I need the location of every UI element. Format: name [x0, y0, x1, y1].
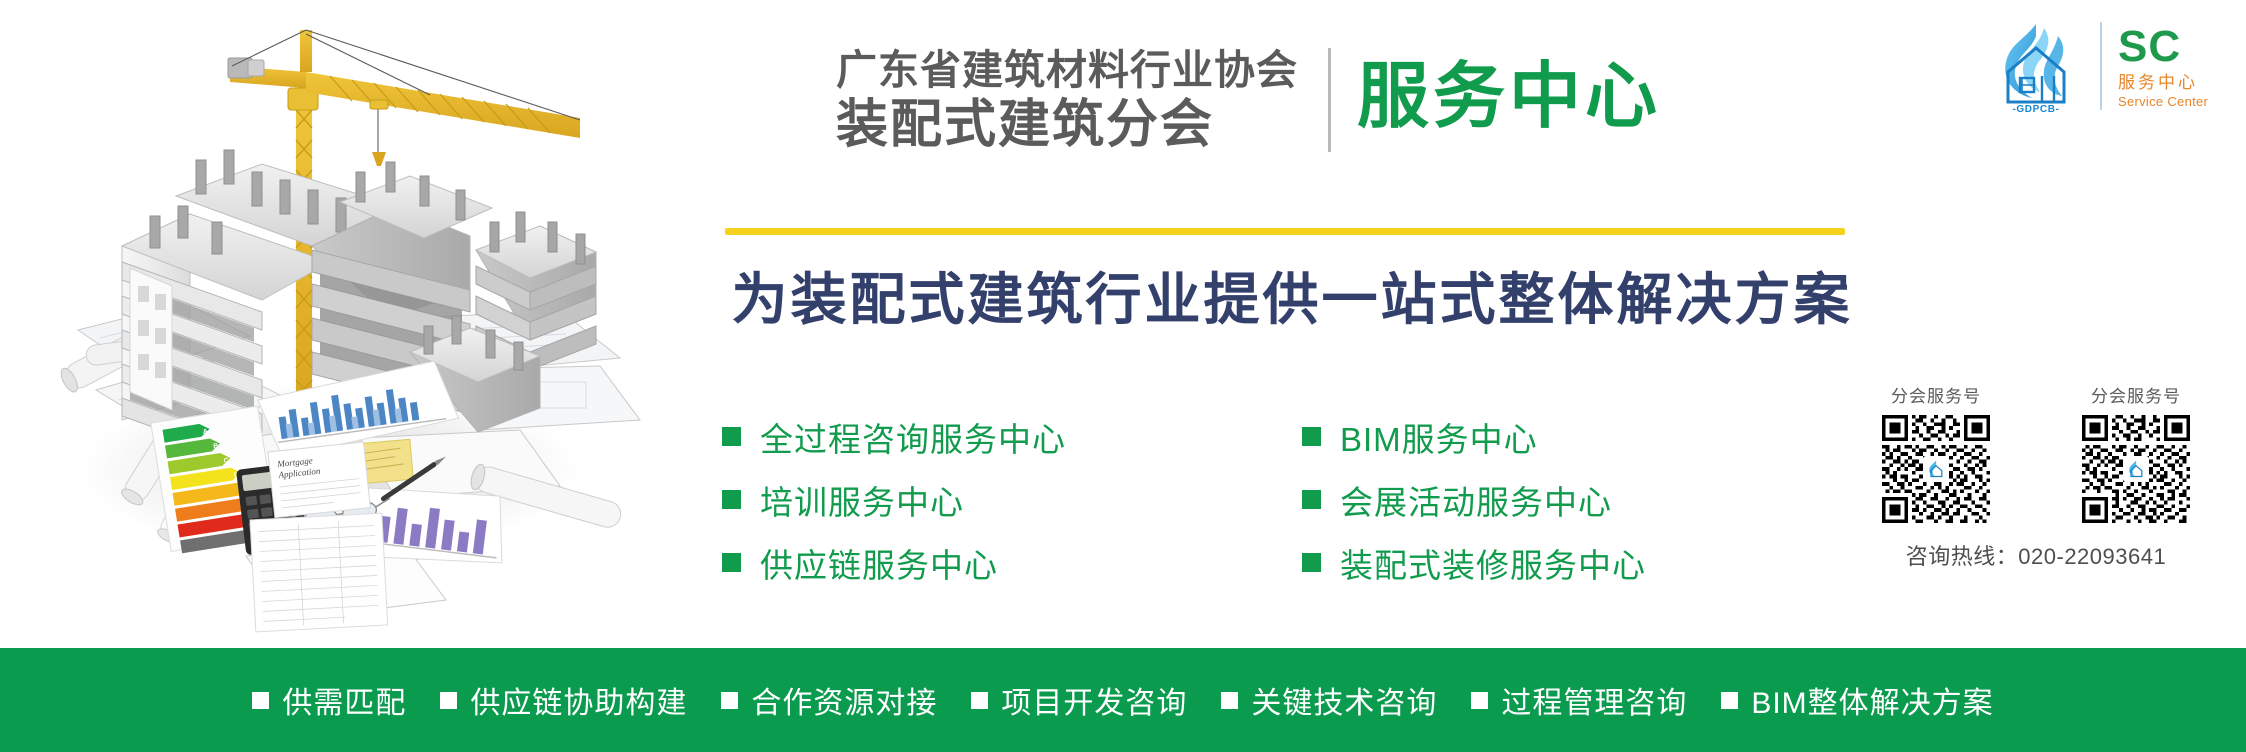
footer-item-supply-chain-build[interactable]: 供应链协助构建 — [440, 678, 687, 722]
square-bullet-icon — [1302, 427, 1321, 446]
footer-item-label: 供应链协助构建 — [470, 678, 687, 722]
service-item-decoration[interactable]: 装配式装修服务中心 — [1302, 531, 1782, 594]
square-bullet-icon — [722, 553, 741, 572]
footer-item-label: 过程管理咨询 — [1501, 678, 1687, 722]
service-item-bim[interactable]: BIM服务中心 — [1302, 405, 1782, 468]
footer-item-label: 项目开发咨询 — [1001, 678, 1187, 722]
square-bullet-icon — [252, 692, 269, 709]
square-bullet-icon — [971, 692, 988, 709]
page-headline: 为装配式建筑行业提供一站式整体解决方案 — [722, 255, 1862, 336]
footer-item-supply-demand-match[interactable]: 供需匹配 — [252, 678, 406, 722]
qr-contact-block: 分会服务号 — [1856, 382, 2216, 571]
promotional-banner: ABC DEF GH — [0, 0, 2246, 752]
footer-item-partner-resources[interactable]: 合作资源对接 — [721, 678, 937, 722]
qr-code-image[interactable] — [2082, 415, 2190, 523]
square-bullet-icon — [440, 692, 457, 709]
service-center-title: 服务中心 — [1357, 61, 1661, 139]
gold-divider-rule — [725, 228, 1845, 235]
hotline-text: 咨询热线：020-22093641 — [1856, 539, 2216, 571]
sc-logotype: SC 服务中心 Service Center — [2118, 25, 2208, 108]
square-bullet-icon — [722, 427, 741, 446]
service-item-label: 供应链服务中心 — [760, 539, 998, 587]
qr-embedded-logo-icon — [1923, 456, 1949, 482]
service-item-label: BIM服务中心 — [1340, 413, 1538, 461]
title-divider — [1328, 48, 1331, 152]
qr-code-item[interactable]: 分会服务号 — [1856, 382, 2016, 523]
branch-name: 装配式建筑分会 — [836, 99, 1214, 151]
qr-code-item[interactable]: 分会服务号 — [2056, 382, 2216, 523]
svg-text:A: A — [202, 428, 208, 436]
gdpcb-abbrev-label: -GDPCB- — [1988, 104, 2084, 115]
qr-code-row: 分会服务号 — [1856, 382, 2216, 523]
qr-caption: 分会服务号 — [2091, 382, 2181, 407]
service-item-label: 培训服务中心 — [760, 476, 964, 524]
square-bullet-icon — [722, 490, 741, 509]
footer-services-bar: 供需匹配 供应链协助构建 合作资源对接 项目开发咨询 关键技术咨询 过程管理咨询 — [0, 648, 2246, 752]
footer-item-key-technology[interactable]: 关键技术咨询 — [1221, 678, 1437, 722]
service-item-supply-chain[interactable]: 供应链服务中心 — [722, 531, 1302, 594]
service-item-label: 全过程咨询服务中心 — [760, 413, 1066, 461]
footer-item-label: 关键技术咨询 — [1251, 678, 1437, 722]
square-bullet-icon — [721, 692, 738, 709]
service-list-left: 全过程咨询服务中心 培训服务中心 供应链服务中心 — [722, 405, 1302, 594]
svg-text:C: C — [223, 457, 229, 465]
construction-illustration: ABC DEF GH — [0, 0, 660, 648]
square-bullet-icon — [1721, 692, 1738, 709]
service-item-exhibition[interactable]: 会展活动服务中心 — [1302, 468, 1782, 531]
qr-code-image[interactable] — [1882, 415, 1990, 523]
service-center-lists: 全过程咨询服务中心 培训服务中心 供应链服务中心 BIM服务中心 会展活动服务中… — [722, 405, 1782, 594]
footer-item-process-management[interactable]: 过程管理咨询 — [1471, 678, 1687, 722]
gdpcb-house-flame-icon: -GDPCB- — [1988, 18, 2084, 114]
qr-embedded-logo-icon — [2123, 456, 2149, 482]
sc-abbrev-label: SC — [2118, 25, 2208, 69]
qr-caption: 分会服务号 — [1891, 382, 1981, 407]
square-bullet-icon — [1302, 490, 1321, 509]
square-bullet-icon — [1302, 553, 1321, 572]
organization-title-block: 广东省建筑材料行业协会 装配式建筑分会 服务中心 — [836, 48, 1661, 152]
service-item-label: 会展活动服务中心 — [1340, 476, 1612, 524]
service-item-label: 装配式装修服务中心 — [1340, 539, 1646, 587]
brand-logo: -GDPCB- SC 服务中心 Service Center — [1988, 14, 2234, 118]
footer-item-label: BIM整体解决方案 — [1751, 678, 1993, 722]
square-bullet-icon — [1221, 692, 1238, 709]
footer-item-label: 供需匹配 — [282, 678, 406, 722]
square-bullet-icon — [1471, 692, 1488, 709]
sc-chinese-label: 服务中心 — [2118, 74, 2208, 91]
association-name: 广东省建筑材料行业协会 — [836, 50, 1298, 91]
logo-divider — [2100, 22, 2102, 110]
svg-text:B: B — [213, 443, 219, 451]
service-list-right: BIM服务中心 会展活动服务中心 装配式装修服务中心 — [1302, 405, 1782, 594]
sc-english-label: Service Center — [2118, 95, 2208, 108]
service-item-training[interactable]: 培训服务中心 — [722, 468, 1302, 531]
footer-item-label: 合作资源对接 — [751, 678, 937, 722]
organization-names: 广东省建筑材料行业协会 装配式建筑分会 — [836, 50, 1298, 151]
footer-item-bim-solution[interactable]: BIM整体解决方案 — [1721, 678, 1993, 722]
service-item-consulting[interactable]: 全过程咨询服务中心 — [722, 405, 1302, 468]
footer-item-list: 供需匹配 供应链协助构建 合作资源对接 项目开发咨询 关键技术咨询 过程管理咨询 — [235, 678, 2010, 722]
footer-item-project-development[interactable]: 项目开发咨询 — [971, 678, 1187, 722]
